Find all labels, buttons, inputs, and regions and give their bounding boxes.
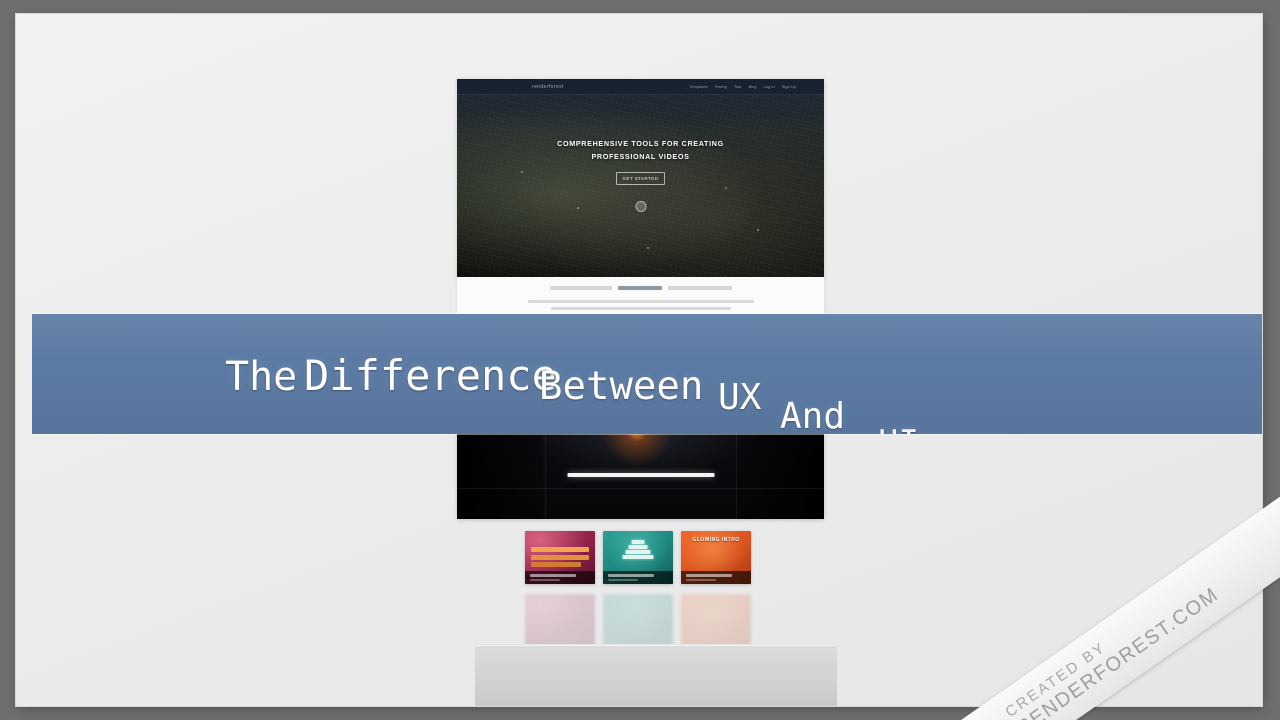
card-caption <box>525 571 595 584</box>
video-frame: renderforest Templates Pricing Tour Blog… <box>0 0 1280 720</box>
nav-link-templates[interactable]: Templates <box>689 84 707 89</box>
title-word-between: Between <box>539 367 703 406</box>
ghost-card <box>603 594 673 647</box>
top-hero-mockup: renderforest Templates Pricing Tour Blog… <box>457 79 824 279</box>
play-circle-icon[interactable] <box>635 201 646 212</box>
mockup-navbar[interactable]: renderforest Templates Pricing Tour Blog… <box>457 79 824 95</box>
ghost-card <box>525 594 595 647</box>
title-word-ux: UX <box>718 380 761 416</box>
hero-headline-line1: COMPREHENSIVE TOOLS FOR CREATING <box>457 137 824 150</box>
title-word-the: The <box>225 357 297 397</box>
template-cards-row: GLOWING INTRO <box>525 531 753 584</box>
card-caption <box>603 571 673 584</box>
nav-link-signup[interactable]: Sign Up <box>782 84 796 89</box>
section-tabs[interactable] <box>457 279 824 290</box>
card-art <box>623 540 654 560</box>
brand-logo[interactable]: renderforest <box>532 84 564 90</box>
card-art <box>531 547 589 570</box>
nav-links[interactable]: Templates Pricing Tour Blog Log In Sign … <box>689 84 796 89</box>
card-caption <box>681 571 751 584</box>
city-light <box>725 187 727 189</box>
title-word-ui: UI <box>878 426 919 460</box>
website-page-sheet: renderforest Templates Pricing Tour Blog… <box>16 14 1262 706</box>
nav-link-pricing[interactable]: Pricing <box>715 84 727 89</box>
tab-active-label[interactable] <box>618 286 662 290</box>
guide-line <box>457 488 824 489</box>
title-word-and: And <box>780 399 845 435</box>
tab-placeholder-right <box>668 286 732 290</box>
ghost-card <box>681 594 751 647</box>
hero-cta-button[interactable]: GET STARTED <box>616 172 665 185</box>
city-light <box>757 229 759 231</box>
hero-image: renderforest Templates Pricing Tour Blog… <box>457 79 824 277</box>
hero-headline-line2: PROFESSIONAL VIDEOS <box>457 150 824 163</box>
city-light <box>577 207 579 209</box>
paragraph-line <box>551 307 731 310</box>
template-card-1[interactable] <box>525 531 595 584</box>
nav-link-login[interactable]: Log In <box>764 84 775 89</box>
nav-link-tour[interactable]: Tour <box>734 84 742 89</box>
card-title: GLOWING INTRO <box>681 537 751 543</box>
hero-copy: COMPREHENSIVE TOOLS FOR CREATING PROFESS… <box>457 137 824 185</box>
highlight-bar <box>567 473 714 477</box>
paragraph-line <box>528 300 754 303</box>
tab-placeholder-left <box>550 286 612 290</box>
device-base <box>475 644 837 706</box>
nav-link-blog[interactable]: Blog <box>749 84 757 89</box>
template-card-2[interactable] <box>603 531 673 584</box>
title-word-difference: Difference <box>304 355 557 397</box>
template-cards-row-ghost <box>525 594 753 647</box>
template-card-3[interactable]: GLOWING INTRO <box>681 531 751 584</box>
city-light <box>647 247 649 249</box>
